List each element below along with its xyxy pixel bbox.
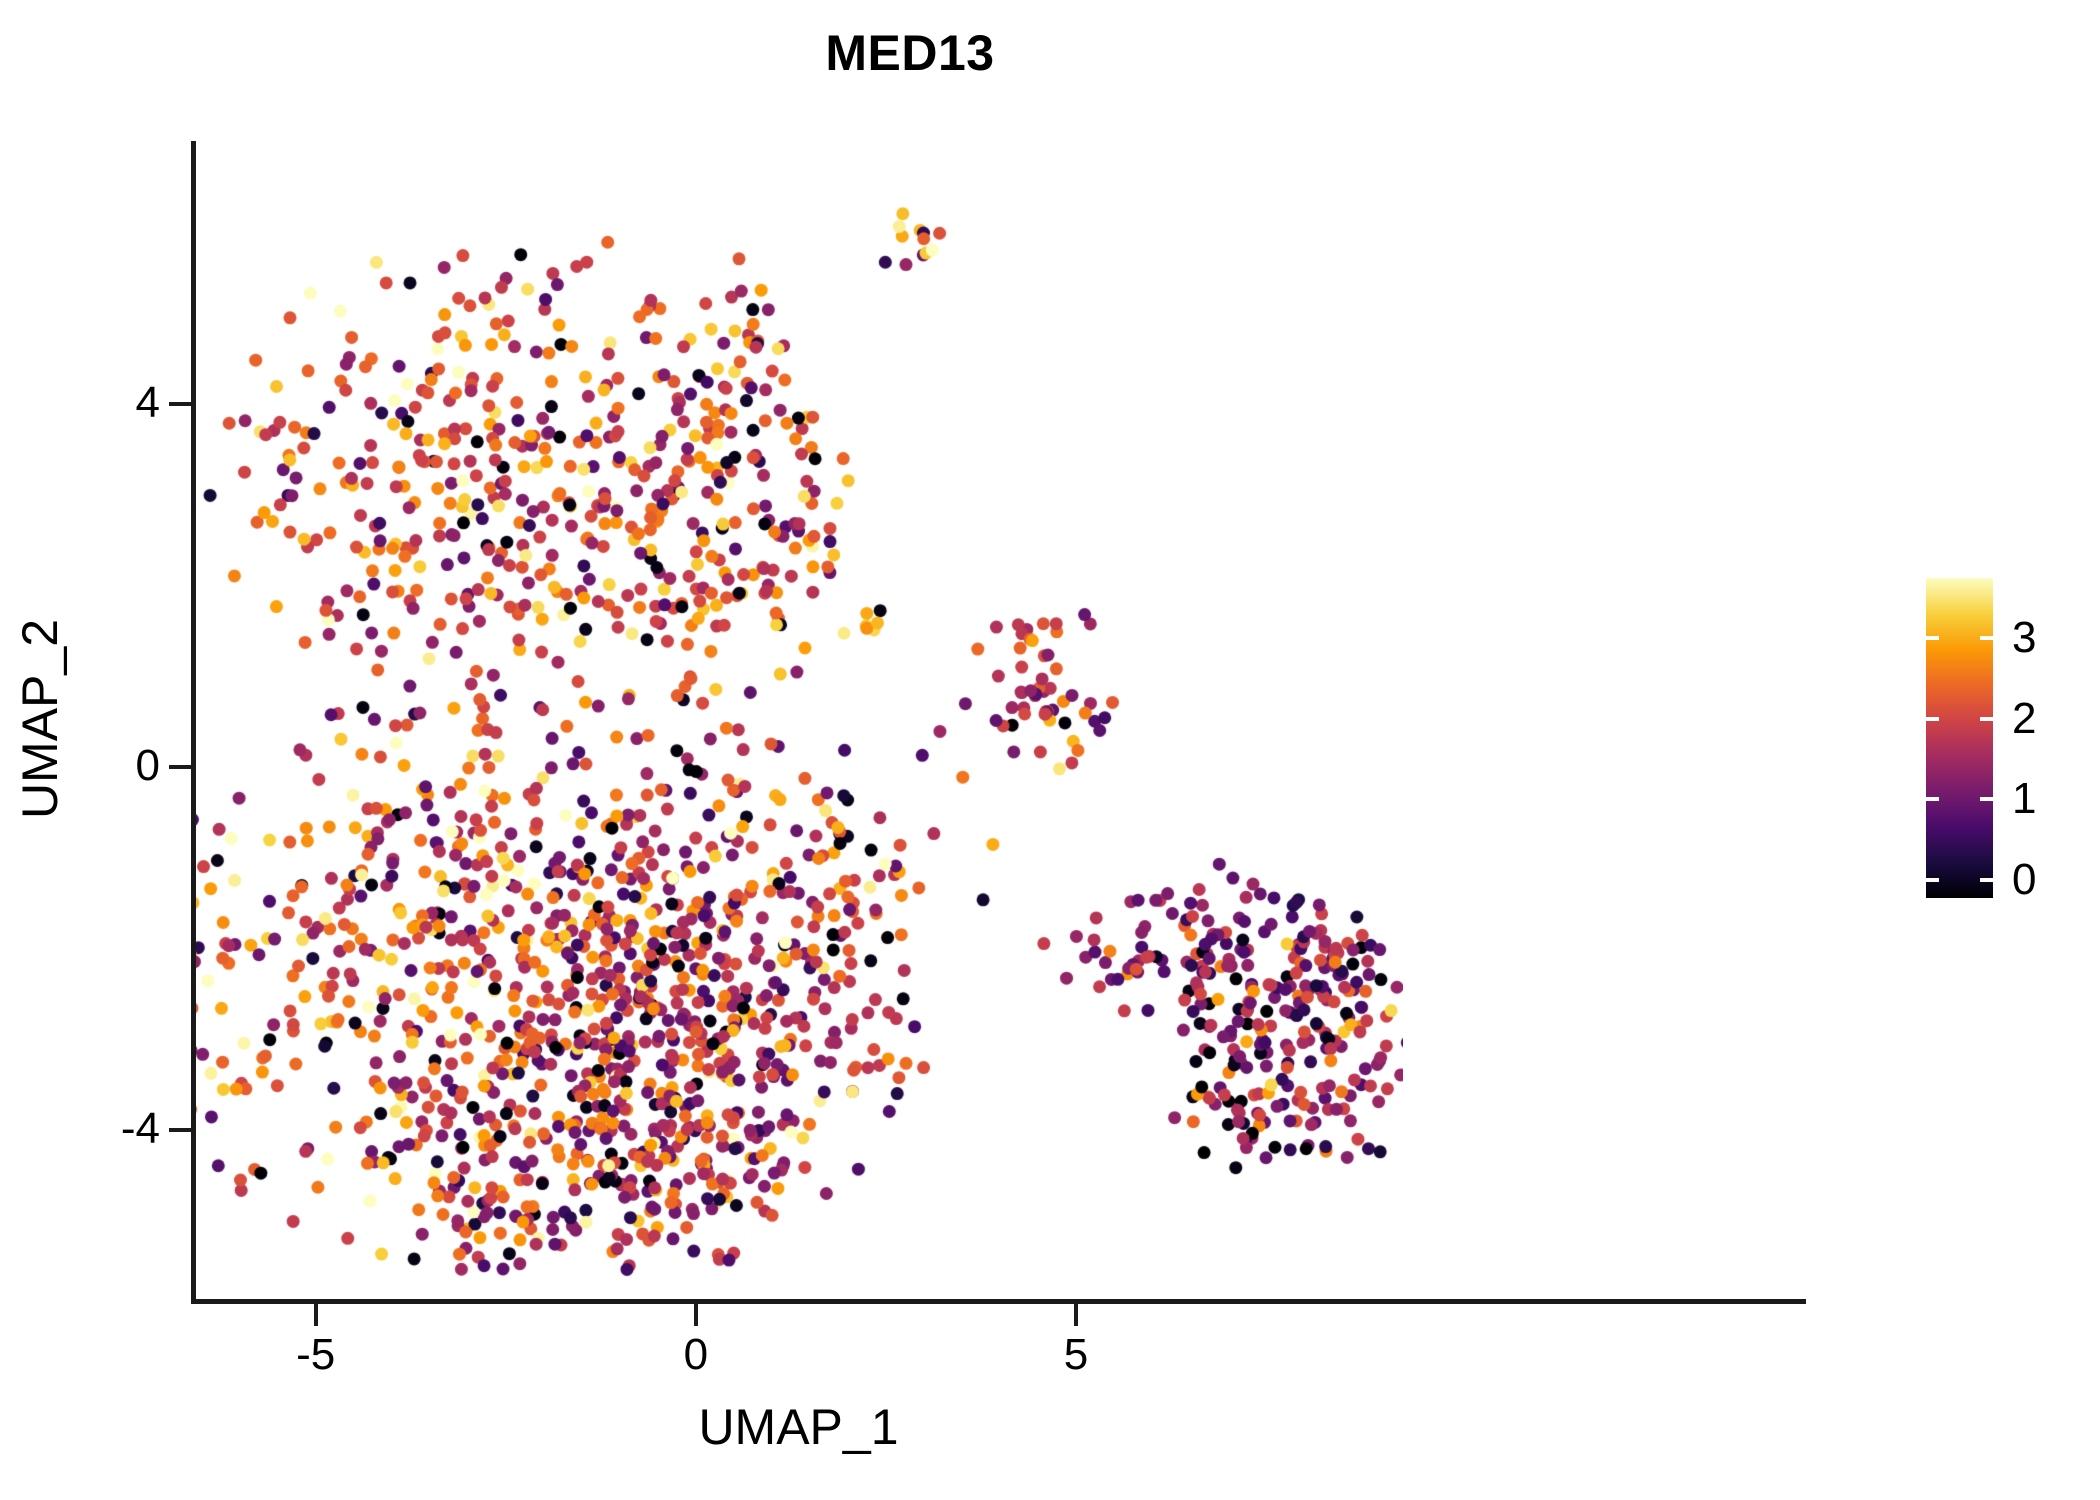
y-tick-mark xyxy=(169,402,191,406)
legend-tick-label: 2 xyxy=(2012,697,2036,741)
figure-root: MED13 -404-505 UMAP_1 UMAP_2 0123 xyxy=(0,0,2100,1500)
x-tick-mark xyxy=(694,1304,698,1326)
legend-tick-mark xyxy=(1980,797,1993,801)
x-tick-label: -5 xyxy=(236,1330,396,1380)
legend-colorbar xyxy=(1926,578,1993,898)
legend-tick-mark xyxy=(1926,797,1939,801)
legend-tick-mark xyxy=(1980,636,1993,640)
legend-tick-label: 0 xyxy=(2012,858,2036,902)
legend-tick-mark xyxy=(1926,717,1939,721)
scatter-points-canvas xyxy=(194,141,1403,1302)
y-tick-mark xyxy=(169,1128,191,1132)
page-title: MED13 xyxy=(0,24,1820,82)
x-tick-mark xyxy=(314,1304,318,1326)
x-tick-label: 5 xyxy=(996,1330,1156,1380)
legend-tick-mark xyxy=(1926,636,1939,640)
legend-tick-mark xyxy=(1926,878,1939,882)
x-axis-line xyxy=(191,1299,1806,1304)
x-tick-mark xyxy=(1074,1304,1078,1326)
y-tick-mark xyxy=(169,765,191,769)
legend-tick-label: 3 xyxy=(2012,616,2036,660)
scatter-plot-panel xyxy=(194,141,1403,1302)
legend-tick-label: 1 xyxy=(2012,777,2036,821)
color-legend: 0123 xyxy=(1926,578,2096,898)
legend-tick-mark xyxy=(1980,878,1993,882)
x-axis-title: UMAP_1 xyxy=(194,1398,1403,1456)
x-tick-label: 0 xyxy=(616,1330,776,1380)
y-axis-title: UMAP_2 xyxy=(11,119,69,1319)
y-axis-line xyxy=(191,141,196,1304)
legend-tick-mark xyxy=(1980,717,1993,721)
